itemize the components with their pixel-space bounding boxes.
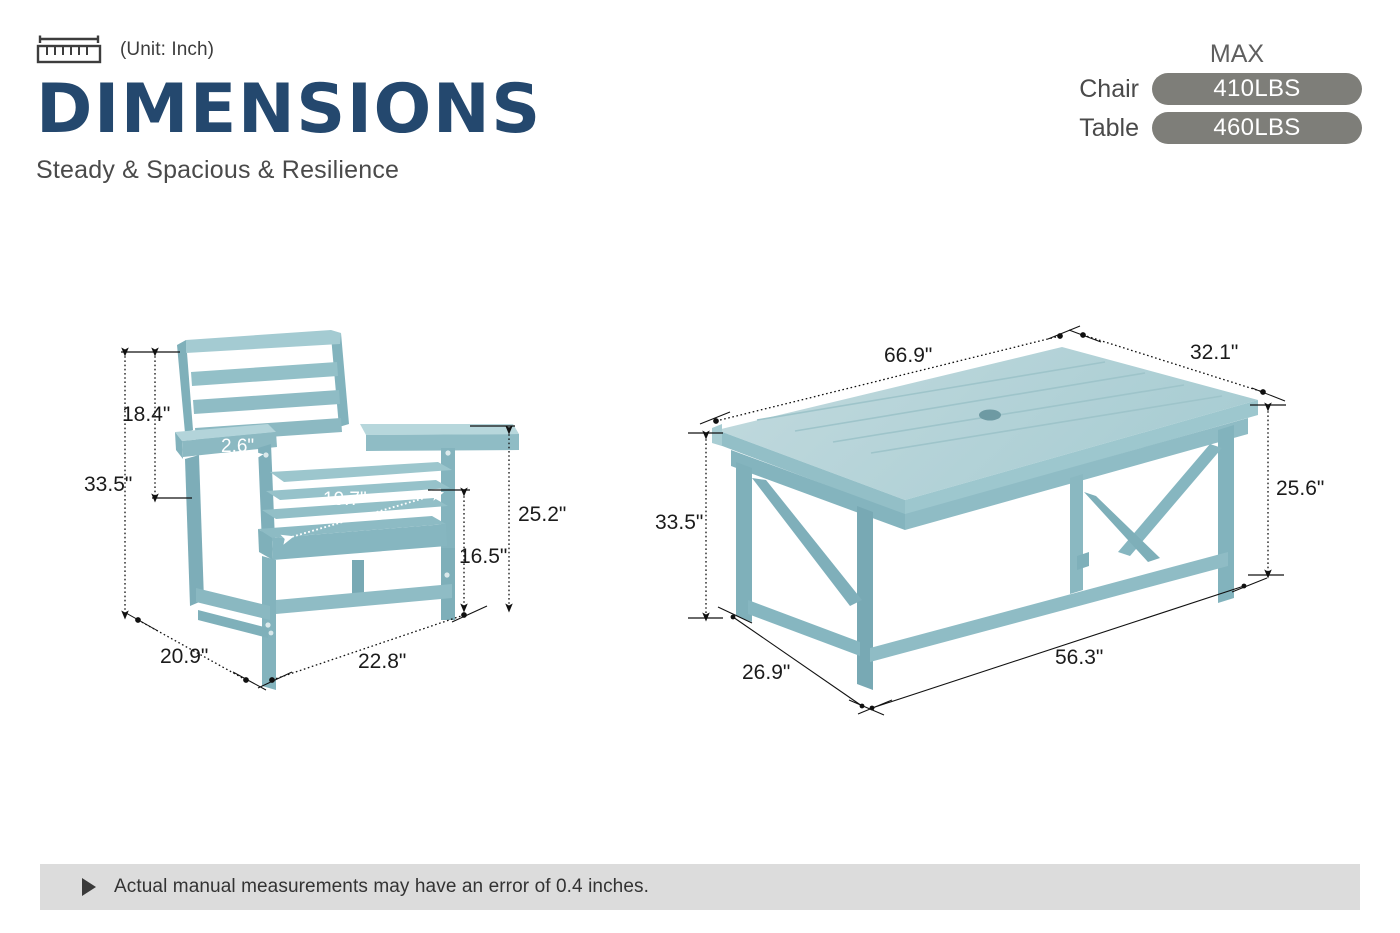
table-dim-top-length: 66.9" <box>884 344 932 368</box>
table-dim-total-height: 33.5" <box>655 511 703 535</box>
table-dim-base-depth: 26.9" <box>742 661 790 685</box>
triangle-right-icon <box>82 878 96 896</box>
chair-dim-width: 22.8" <box>358 650 406 674</box>
table-dim-side-height: 25.6" <box>1276 477 1324 501</box>
chair-dim-total-height: 33.5" <box>84 473 132 497</box>
chair-dim-depth: 20.9" <box>160 645 208 669</box>
infographic-canvas: (Unit: Inch) DIMENSIONS Steady & Spaciou… <box>0 0 1400 933</box>
table-illustration <box>712 347 1258 690</box>
table-dim-base-length: 56.3" <box>1055 646 1103 670</box>
footer-note-bar: Actual manual measurements may have an e… <box>40 864 1360 910</box>
drawings-layer <box>0 0 1400 933</box>
chair-dim-seat-height: 16.5" <box>459 545 507 569</box>
chair-dim-seat-width: 19.7" <box>323 489 367 511</box>
chair-dim-back-height: 18.4" <box>122 403 170 427</box>
chair-dim-arm-height: 25.2" <box>518 503 566 527</box>
table-dim-top-width: 32.1" <box>1190 341 1238 365</box>
chair-dim-arm-width: 2.6" <box>221 436 254 458</box>
footer-note-text: Actual manual measurements may have an e… <box>114 876 649 898</box>
